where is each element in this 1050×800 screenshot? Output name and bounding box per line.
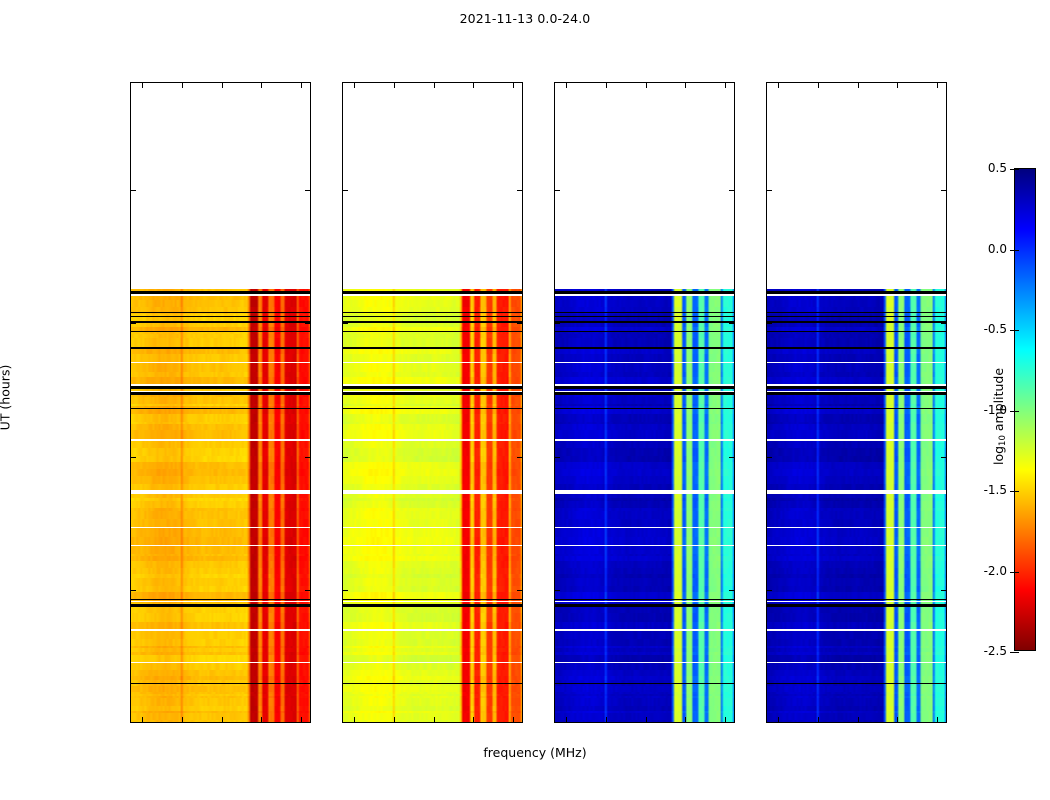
data-scan-row [131, 622, 310, 629]
y-tick-right [305, 190, 310, 191]
y-tick [767, 590, 772, 591]
data-scan-row [555, 424, 734, 430]
flagged-scan-row [767, 362, 946, 363]
data-scan-row [343, 554, 522, 556]
panel-yy[interactable]: YY, V3=EA0832033535036538005101520 [342, 82, 523, 723]
data-scan-row [555, 568, 734, 574]
colorbar-tick-label: -1.5 [961, 483, 1007, 497]
data-scan-row [131, 613, 310, 621]
data-scan-row [343, 404, 522, 406]
data-scan-row [131, 692, 310, 694]
data-scan-row [555, 663, 734, 670]
y-tick [131, 457, 136, 458]
data-scan-row [343, 501, 522, 508]
colorbar-tick-inner [1015, 330, 1019, 331]
data-scan-row [343, 354, 522, 363]
flagged-scan-row [343, 545, 522, 546]
flagged-scan-row [343, 384, 522, 386]
data-scan-row [555, 578, 734, 586]
flagged-scan-row [767, 295, 946, 297]
y-tick [767, 190, 772, 191]
data-scan-row [131, 363, 310, 372]
flagged-scan-row [343, 439, 522, 441]
data-scan-row [555, 372, 734, 377]
data-scan-row [343, 574, 522, 578]
heatmap-xy[interactable] [555, 83, 734, 722]
colorbar-tick-label: 0.0 [961, 242, 1007, 256]
data-scan-row [767, 676, 946, 680]
data-scan-row [555, 511, 734, 519]
data-scan-row [343, 469, 522, 476]
zeroed-scan-row [555, 392, 734, 395]
zeroed-scan-row [767, 392, 946, 395]
data-scan-row [767, 648, 946, 652]
x-tick-top [858, 83, 859, 88]
data-scan-row [131, 476, 310, 484]
data-scan-row [767, 652, 946, 655]
data-scan-row [343, 648, 522, 652]
data-scan-row [767, 334, 946, 338]
x-tick-top [937, 83, 938, 88]
data-scan-row [555, 456, 734, 462]
data-scan-row [555, 354, 734, 363]
zeroed-scan-row [555, 321, 734, 323]
flagged-scan-row [343, 601, 522, 603]
data-scan-row [131, 706, 310, 711]
data-scan-row [131, 686, 310, 692]
zeroed-scan-row [555, 316, 734, 318]
x-tick-top [182, 83, 183, 88]
x-tick-label: 350 [192, 722, 252, 723]
x-tick-top [301, 83, 302, 88]
data-scan-row [131, 508, 310, 511]
data-scan-row [343, 639, 522, 647]
data-scan-row [343, 334, 522, 338]
data-scan-row [767, 409, 946, 414]
data-scan-row [555, 349, 734, 354]
data-scan-row [555, 648, 734, 652]
y-tick-right [941, 323, 946, 324]
y-tick-right [941, 457, 946, 458]
data-scan-row [555, 694, 734, 696]
y-tick [131, 590, 136, 591]
data-scan-row [131, 422, 310, 424]
data-scan-row [767, 537, 946, 545]
colorbar-tick-label: -2.5 [961, 644, 1007, 658]
zeroed-scan-row [343, 604, 522, 607]
data-scan-row [767, 448, 946, 456]
data-scan-row [767, 354, 946, 363]
data-scan-row [131, 406, 310, 408]
zeroed-scan-row [131, 312, 310, 314]
data-scan-row [555, 501, 734, 508]
y-tick [343, 457, 348, 458]
data-scan-row [131, 300, 310, 307]
data-scan-row [767, 613, 946, 621]
x-tick-top [897, 83, 898, 88]
zeroed-scan-row [555, 386, 734, 388]
data-scan-row [343, 696, 522, 698]
data-scan-row [131, 568, 310, 574]
data-scan-row [343, 561, 522, 568]
zeroed-scan-row [555, 291, 734, 293]
x-tick-label: 380 [271, 722, 311, 723]
y-tick-right [517, 590, 522, 591]
data-scan-row [343, 592, 522, 599]
x-tick-top [473, 83, 474, 88]
data-scan-row [767, 554, 946, 556]
data-scan-row [343, 686, 522, 692]
data-scan-row [555, 528, 734, 537]
data-scan-row [343, 397, 522, 405]
x-tick-label: 335 [364, 722, 424, 723]
data-scan-row [343, 655, 522, 663]
y-axis-label: UT (hours) [0, 365, 12, 431]
data-scan-row [343, 556, 522, 560]
data-scan-row [767, 655, 946, 663]
zeroed-scan-row [555, 347, 734, 348]
y-tick [343, 590, 348, 591]
data-scan-row [767, 424, 946, 430]
data-scan-row [131, 646, 310, 647]
data-scan-row [555, 686, 734, 692]
zeroed-scan-row [555, 331, 734, 332]
x-tick-label: 380 [907, 722, 947, 723]
x-tick-label: 320 [766, 722, 808, 723]
zeroed-scan-row [343, 386, 522, 388]
no-data-region [343, 83, 522, 289]
flagged-scan-row [767, 630, 946, 631]
flagged-scan-row [343, 362, 522, 363]
colorbar-tick-inner [1015, 250, 1019, 251]
zeroed-scan-row [767, 604, 946, 607]
data-scan-row [555, 498, 734, 501]
data-scan-row [555, 409, 734, 414]
zeroed-scan-row [131, 291, 310, 293]
heatmap-xx[interactable] [131, 83, 310, 722]
data-scan-row [131, 354, 310, 363]
data-scan-row [555, 363, 734, 372]
data-scan-row [555, 696, 734, 698]
data-scan-row [343, 694, 522, 696]
data-scan-row [767, 397, 946, 405]
flagged-scan-row [555, 601, 734, 603]
colorbar-tick-label: -2.0 [961, 564, 1007, 578]
flagged-scan-row [555, 295, 734, 297]
data-scan-row [131, 663, 310, 670]
zeroed-scan-row [131, 331, 310, 332]
data-scan-row [767, 414, 946, 422]
data-scan-row [131, 334, 310, 338]
data-scan-row [131, 372, 310, 377]
zeroed-scan-row [767, 291, 946, 293]
x-tick-label: 365 [867, 722, 927, 723]
flagged-scan-row [555, 362, 734, 363]
colorbar-tick-inner [1015, 491, 1019, 492]
x-tick-top [261, 83, 262, 88]
data-scan-row [767, 698, 946, 706]
x-tick-top [222, 83, 223, 88]
y-tick [555, 590, 560, 591]
data-scan-row [343, 363, 522, 372]
y-tick [767, 457, 772, 458]
data-scan-row [767, 349, 946, 354]
data-scan-row [767, 469, 946, 476]
data-scan-row [131, 696, 310, 698]
data-scan-row [131, 511, 310, 519]
flagged-scan-row [131, 490, 310, 495]
flagged-scan-row [767, 439, 946, 441]
y-tick-right [729, 590, 734, 591]
data-scan-row [555, 469, 734, 476]
x-tick-label: 365 [231, 722, 291, 723]
zeroed-scan-row [343, 291, 522, 293]
data-scan-row [767, 456, 946, 462]
data-scan-row [555, 338, 734, 347]
flagged-scan-row [131, 527, 310, 528]
no-data-region [131, 83, 310, 289]
data-scan-row [131, 289, 310, 291]
data-scan-row [131, 501, 310, 508]
data-scan-row [131, 556, 310, 560]
flagged-scan-row [131, 384, 310, 386]
zeroed-scan-row [767, 386, 946, 388]
data-scan-row [555, 519, 734, 526]
data-scan-row [343, 713, 522, 720]
no-data-region [555, 83, 734, 289]
data-scan-row [555, 448, 734, 456]
data-scan-row [555, 646, 734, 647]
data-scan-row [767, 663, 946, 670]
data-scan-row [131, 694, 310, 696]
data-scan-row [555, 322, 734, 327]
data-scan-row [343, 349, 522, 354]
data-scan-row [343, 676, 522, 680]
data-scan-row [767, 404, 946, 406]
data-scan-row [555, 430, 734, 439]
data-scan-row [767, 561, 946, 568]
y-tick-right [517, 323, 522, 324]
data-scan-row [343, 448, 522, 456]
x-axis-label: frequency (MHz) [120, 745, 950, 760]
flagged-scan-row [555, 630, 734, 631]
zeroed-scan-row [131, 347, 310, 348]
data-scan-row [131, 528, 310, 537]
data-scan-row [767, 476, 946, 484]
y-tick-right [941, 590, 946, 591]
figure-canvas: 2021-11-13 0.0-24.0 UT (hours) frequency… [0, 0, 1050, 800]
data-scan-row [131, 456, 310, 462]
data-scan-row [131, 322, 310, 327]
y-tick-right [729, 190, 734, 191]
zeroed-scan-row [131, 408, 310, 409]
data-scan-row [343, 424, 522, 430]
y-tick [343, 323, 348, 324]
data-scan-row [767, 556, 946, 560]
colorbar-label: log10 amplitude [991, 368, 1008, 465]
data-scan-row [343, 545, 522, 554]
data-scan-row [555, 289, 734, 291]
data-scan-row [767, 686, 946, 692]
x-tick-top [646, 83, 647, 88]
y-tick-right [305, 590, 310, 591]
data-scan-row [343, 528, 522, 537]
data-scan-row [767, 511, 946, 519]
x-tick-label: 350 [828, 722, 888, 723]
x-tick-top [566, 83, 567, 88]
data-scan-row [555, 613, 734, 621]
data-scan-row [767, 545, 946, 554]
data-scan-row [767, 711, 946, 714]
zeroed-scan-row [343, 347, 522, 348]
data-scan-row [131, 574, 310, 578]
flagged-scan-row [131, 439, 310, 441]
x-tick-top [606, 83, 607, 88]
data-scan-row [555, 397, 734, 405]
data-scan-row [555, 574, 734, 578]
zeroed-scan-row [343, 408, 522, 409]
data-scan-row [343, 430, 522, 439]
data-scan-row [555, 652, 734, 655]
data-scan-row [555, 639, 734, 647]
panel-yx[interactable]: YX, V3=EA0832033535036538005101520 [766, 82, 947, 723]
data-scan-row [555, 631, 734, 638]
heatmap-yy[interactable] [343, 83, 522, 722]
data-scan-row [555, 586, 734, 592]
data-scan-row [555, 537, 734, 545]
y-tick-right [729, 323, 734, 324]
data-scan-row [343, 498, 522, 501]
data-scan-row [131, 332, 310, 334]
flagged-scan-row [767, 490, 946, 495]
flagged-scan-row [767, 601, 946, 603]
zeroed-scan-row [555, 312, 734, 314]
data-scan-row [767, 406, 946, 408]
flagged-scan-row [555, 490, 734, 495]
data-scan-row [555, 592, 734, 599]
zeroed-scan-row [131, 683, 310, 684]
x-tick-label: 365 [655, 722, 715, 723]
panel-xy[interactable]: XY, V3=EA0832033535036538005101520 [554, 82, 735, 723]
data-scan-row [343, 613, 522, 621]
data-scan-row [767, 578, 946, 586]
data-scan-row [131, 713, 310, 720]
data-scan-row [767, 568, 946, 574]
y-tick [343, 190, 348, 191]
data-scan-row [343, 409, 522, 414]
data-scan-row [343, 537, 522, 545]
data-scan-row [555, 692, 734, 694]
data-scan-row [767, 631, 946, 638]
data-scan-row [555, 476, 734, 484]
data-scan-row [767, 501, 946, 508]
flagged-scan-row [131, 601, 310, 603]
data-scan-row [767, 670, 946, 676]
data-scan-row [343, 511, 522, 519]
flagged-scan-row [343, 630, 522, 631]
y-tick [555, 323, 560, 324]
data-scan-row [555, 300, 734, 307]
x-tick-top [513, 83, 514, 88]
zeroed-scan-row [131, 604, 310, 607]
zeroed-scan-row [555, 604, 734, 607]
x-tick-label: 380 [483, 722, 523, 723]
data-scan-row [343, 508, 522, 511]
data-scan-row [555, 327, 734, 331]
heatmap-yx[interactable] [767, 83, 946, 722]
data-scan-row [767, 622, 946, 629]
data-scan-row [343, 327, 522, 331]
data-scan-row [555, 406, 734, 408]
data-scan-row [343, 519, 522, 526]
data-scan-row [343, 406, 522, 408]
data-scan-row [767, 332, 946, 334]
zeroed-scan-row [767, 331, 946, 332]
data-scan-row [767, 586, 946, 592]
flagged-scan-row [555, 439, 734, 441]
colorbar-label-tail: amplitude [991, 368, 1006, 435]
data-scan-row [767, 528, 946, 537]
colorbar-label-subscript: 10 [998, 435, 1008, 446]
y-tick [555, 457, 560, 458]
data-scan-row [555, 462, 734, 468]
flagged-scan-row [131, 630, 310, 631]
zeroed-scan-row [343, 321, 522, 323]
colorbar-tick-inner [1015, 411, 1019, 412]
data-scan-row [131, 648, 310, 652]
data-scan-row [767, 422, 946, 424]
x-tick-top [394, 83, 395, 88]
y-tick-right [729, 457, 734, 458]
zeroed-scan-row [555, 683, 734, 684]
data-scan-row [131, 462, 310, 468]
data-scan-row [131, 586, 310, 592]
data-scan-row [555, 713, 734, 720]
flagged-scan-row [767, 629, 946, 630]
data-scan-row [767, 713, 946, 720]
data-scan-row [555, 422, 734, 424]
data-scan-row [343, 414, 522, 422]
data-scan-row [131, 561, 310, 568]
flagged-scan-row [131, 295, 310, 297]
data-scan-row [131, 448, 310, 456]
zeroed-scan-row [131, 386, 310, 388]
x-tick-top [685, 83, 686, 88]
data-scan-row [555, 334, 734, 338]
data-scan-row [131, 676, 310, 680]
data-scan-row [555, 404, 734, 406]
panel-xx[interactable]: XX, V3=EA0832033535036538005101520 [130, 82, 311, 723]
zeroed-scan-row [767, 321, 946, 323]
data-scan-row [343, 663, 522, 670]
data-scan-row [555, 554, 734, 556]
data-scan-row [767, 327, 946, 331]
data-scan-row [131, 711, 310, 714]
x-tick-label: 320 [130, 722, 172, 723]
data-scan-row [767, 322, 946, 327]
colorbar[interactable]: -2.5-2.0-1.5-1.0-0.50.00.5 [1014, 168, 1036, 651]
zeroed-scan-row [555, 408, 734, 409]
zeroed-scan-row [767, 683, 946, 684]
data-scan-row [343, 300, 522, 307]
x-tick-top [434, 83, 435, 88]
zeroed-scan-row [131, 316, 310, 318]
data-scan-row [555, 556, 734, 560]
data-scan-row [343, 289, 522, 291]
colorbar-tick-inner [1015, 572, 1019, 573]
data-scan-row [343, 568, 522, 574]
flagged-scan-row [767, 384, 946, 386]
